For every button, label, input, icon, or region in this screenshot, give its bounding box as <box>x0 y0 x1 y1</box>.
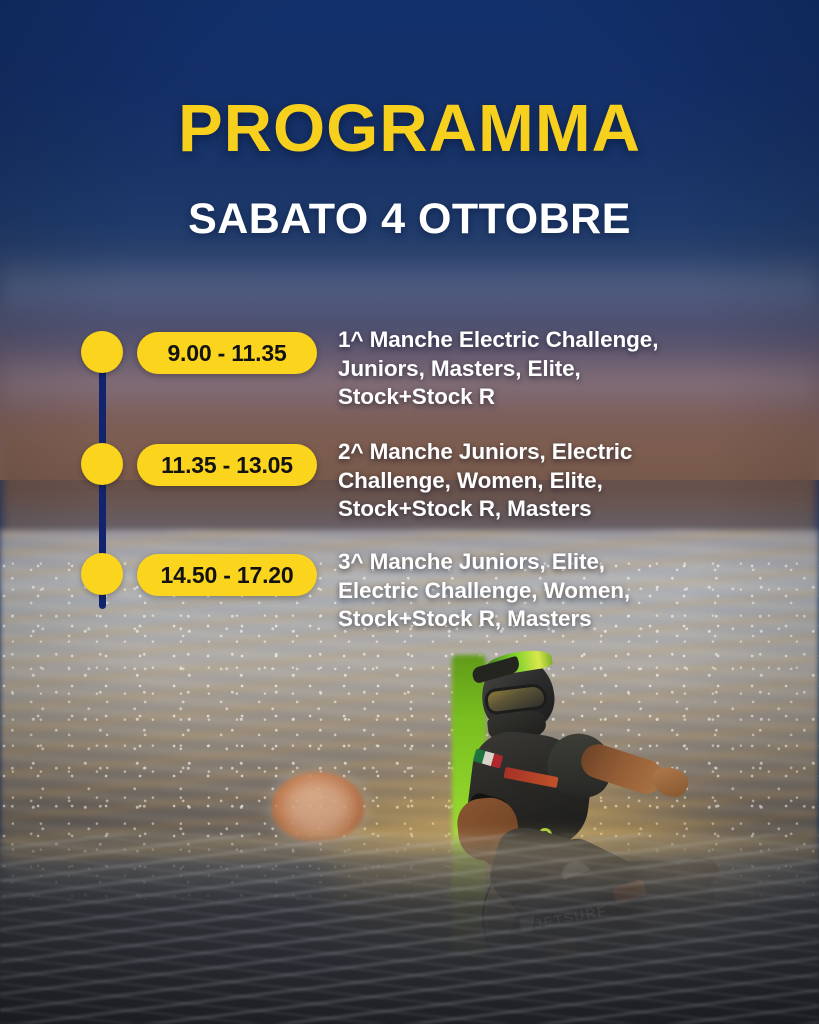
schedule-description: 1^ Manche Electric Challenge, Juniors, M… <box>338 326 729 412</box>
schedule-row: 11.35 - 13.05 2^ Manche Juniors, Electri… <box>0 430 819 540</box>
schedule-timeline: 9.00 - 11.35 1^ Manche Electric Challeng… <box>0 318 819 650</box>
page-title: PROGRAMMA <box>0 95 819 162</box>
desc-line: 2^ Manche Juniors, Electric <box>338 438 729 467</box>
desc-line: 1^ Manche Electric Challenge, <box>338 326 729 355</box>
programma-poster: JETSURF PROGRAMMA SABATO 4 OTTOBRE 9.00 … <box>0 0 819 1024</box>
time-badge: 9.00 - 11.35 <box>137 332 317 374</box>
desc-line: 3^ Manche Juniors, Elite, <box>338 548 729 577</box>
time-badge: 14.50 - 17.20 <box>137 554 317 596</box>
desc-line: Juniors, Masters, Elite, <box>338 355 729 384</box>
desc-line: Stock+Stock R, Masters <box>338 605 729 634</box>
schedule-row: 14.50 - 17.20 3^ Manche Juniors, Elite, … <box>0 540 819 650</box>
desc-line: Challenge, Women, Elite, <box>338 467 729 496</box>
time-badge: 11.35 - 13.05 <box>137 444 317 486</box>
desc-line: Stock+Stock R, Masters <box>338 495 729 524</box>
desc-line: Stock+Stock R <box>338 383 729 412</box>
page-subtitle: SABATO 4 OTTOBRE <box>0 198 819 241</box>
timeline-dot <box>81 553 123 595</box>
poster-content: PROGRAMMA SABATO 4 OTTOBRE 9.00 - 11.35 … <box>0 0 819 1024</box>
timeline-dot <box>81 331 123 373</box>
timeline-dot <box>81 443 123 485</box>
schedule-description: 3^ Manche Juniors, Elite, Electric Chall… <box>338 548 729 634</box>
desc-line: Electric Challenge, Women, <box>338 577 729 606</box>
schedule-description: 2^ Manche Juniors, Electric Challenge, W… <box>338 438 729 524</box>
schedule-row: 9.00 - 11.35 1^ Manche Electric Challeng… <box>0 318 819 430</box>
